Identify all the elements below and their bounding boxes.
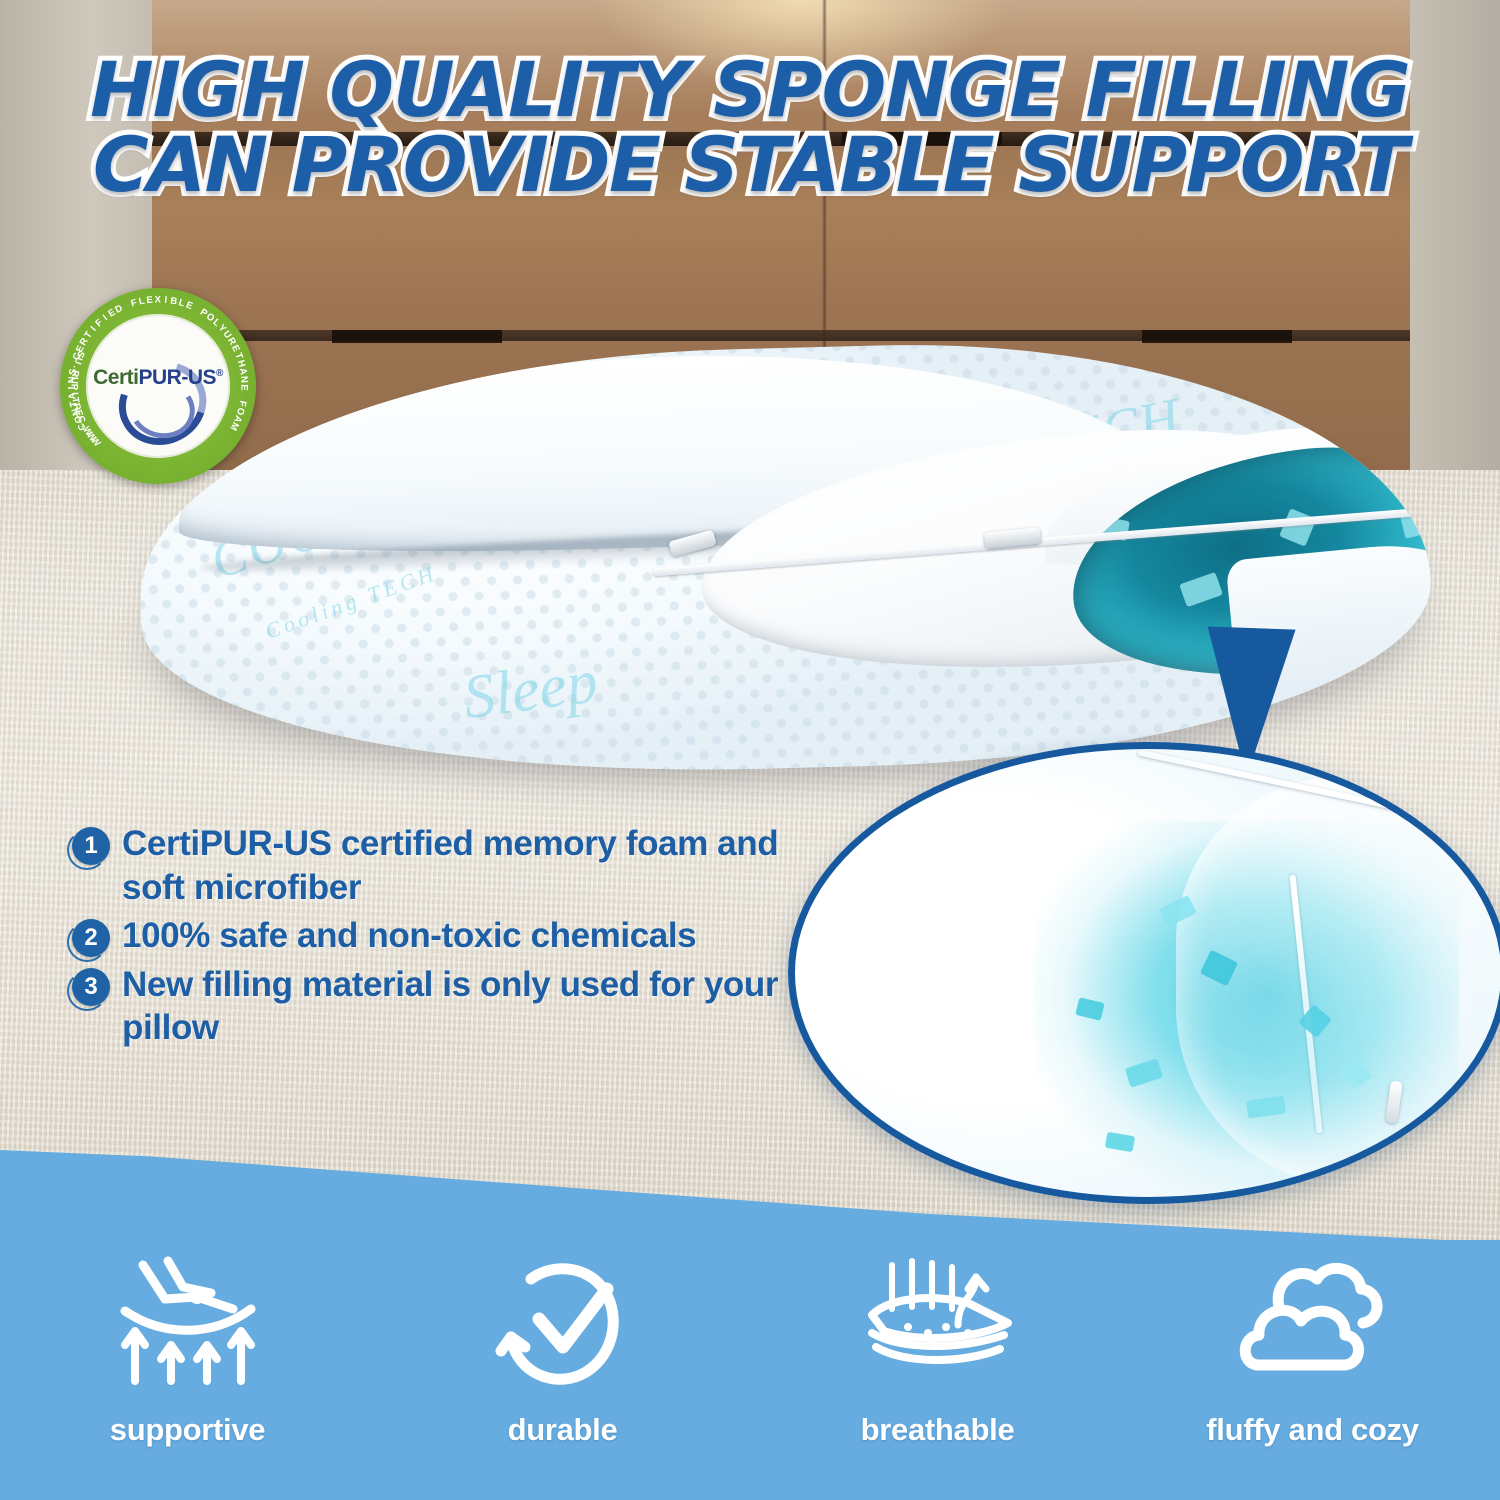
bullet-number-badge: 3 (70, 968, 110, 1008)
durable-icon (375, 1248, 750, 1398)
bullet-number-badge: 2 (70, 919, 110, 959)
benefit-item-durable: durable (375, 1248, 750, 1448)
product-infographic: COOL Sleep TECH Cooling TECH CONTAINS C (0, 0, 1500, 1500)
benefit-item-fluffy-cozy: fluffy and cozy (1125, 1248, 1500, 1448)
page-title: HIGH QUALITY SPONGE FILLING CAN PROVIDE … (0, 52, 1500, 202)
badge-center-text: CertiPUR-US® (86, 366, 230, 390)
benefit-label-fluffy-cozy: fluffy and cozy (1125, 1412, 1500, 1448)
bullet-number: 3 (72, 968, 110, 1006)
list-item: 1 CertiPUR-US certified memory foam and … (70, 822, 800, 910)
fluffy-cozy-icon (1125, 1248, 1500, 1398)
feature-text: New filling material is only used for yo… (122, 963, 800, 1051)
badge-center-purus: PUR-US (138, 366, 216, 389)
bullet-number: 2 (72, 919, 110, 957)
list-item: 3 New filling material is only used for … (70, 963, 800, 1051)
feature-list: 1 CertiPUR-US certified memory foam and … (70, 822, 800, 1054)
benefit-item-supportive: supportive (0, 1248, 375, 1448)
badge-center-certi: Certi (93, 366, 138, 389)
magnified-detail-inset (788, 742, 1500, 1204)
list-item: 2 100% safe and non-toxic chemicals (70, 914, 800, 959)
feature-text: 100% safe and non-toxic chemicals (122, 914, 696, 958)
benefit-label-breathable: breathable (750, 1412, 1125, 1448)
benefit-label-supportive: supportive (0, 1412, 375, 1448)
bullet-number: 1 (72, 827, 110, 865)
certipur-us-badge: CONTAINS CERTIFIED FLEXIBLE POLYURETHANE… (60, 288, 256, 484)
badge-inner-disc: CertiPUR-US® (86, 314, 230, 458)
benefit-label-durable: durable (375, 1412, 750, 1448)
supportive-icon (0, 1248, 375, 1398)
breathable-icon (750, 1248, 1125, 1398)
benefit-item-breathable: breathable (750, 1248, 1125, 1448)
bullet-number-badge: 1 (70, 827, 110, 867)
benefits-icons-row: supportive durable (0, 1248, 1500, 1448)
registered-mark-icon: ® (216, 368, 223, 379)
headline-line-2: CAN PROVIDE STABLE SUPPORT (0, 127, 1500, 202)
feature-text: CertiPUR-US certified memory foam and so… (122, 822, 800, 910)
